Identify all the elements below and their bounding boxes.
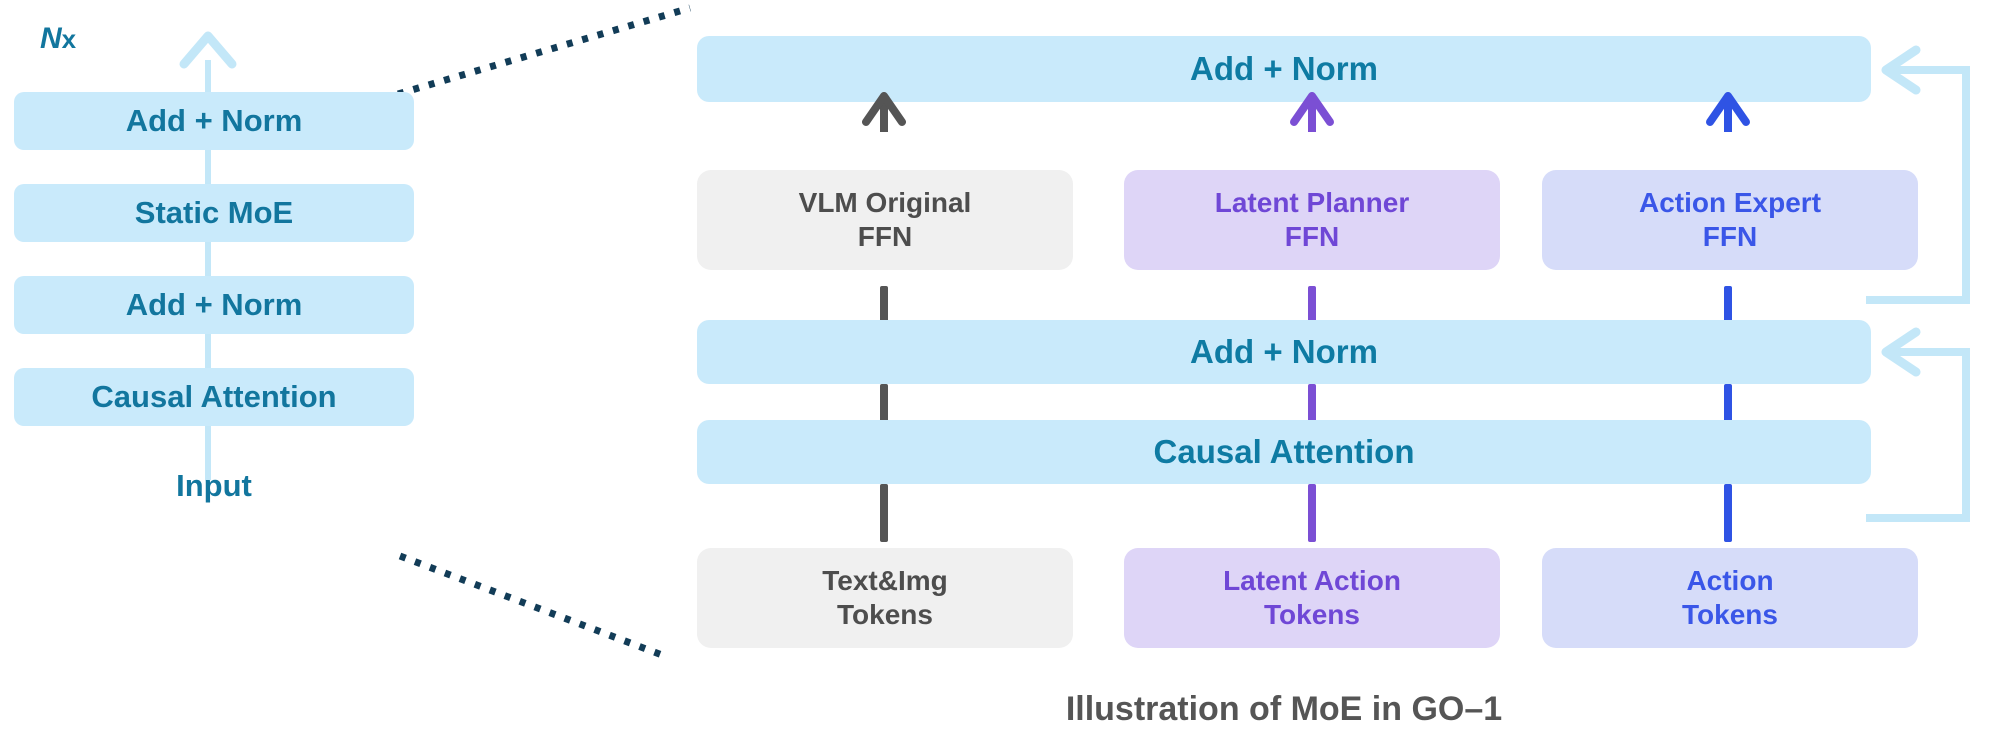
expert-label-line2: FFN <box>858 220 912 254</box>
stream-stub-purple-lower <box>1308 484 1316 542</box>
left-block-causal-attention[interactable]: Causal Attention <box>14 368 414 426</box>
left-block-add-norm-2[interactable]: Add + Norm <box>14 92 414 150</box>
left-block-add-norm-1[interactable]: Add + Norm <box>14 276 414 334</box>
figure-canvas: Nx Add + Norm Static MoE Add + Norm Caus… <box>0 0 2014 748</box>
expert-box-latent-planner-ffn[interactable]: Latent Planner FFN <box>1124 170 1500 270</box>
token-label-line2: Tokens <box>1264 598 1360 632</box>
token-box-action-tokens[interactable]: Action Tokens <box>1542 548 1918 648</box>
expert-label-line2: FFN <box>1703 220 1757 254</box>
token-label-line2: Tokens <box>1682 598 1778 632</box>
token-box-latent-action-tokens[interactable]: Latent Action Tokens <box>1124 548 1500 648</box>
left-input-label: Input <box>14 468 414 504</box>
expert-label-line2: FFN <box>1285 220 1339 254</box>
token-label-line2: Tokens <box>837 598 933 632</box>
token-label-line1: Text&Img <box>822 564 948 598</box>
left-block-label: Add + Norm <box>126 102 303 140</box>
right-mid-add-norm-label: Add + Norm <box>1190 332 1378 372</box>
right-causal-attention[interactable]: Causal Attention <box>697 420 1871 484</box>
right-mid-add-norm[interactable]: Add + Norm <box>697 320 1871 384</box>
left-block-label: Add + Norm <box>126 286 303 324</box>
expert-box-action-expert-ffn[interactable]: Action Expert FFN <box>1542 170 1918 270</box>
token-box-text-img-tokens[interactable]: Text&Img Tokens <box>697 548 1073 648</box>
expert-label-line1: Latent Planner <box>1215 186 1409 220</box>
token-label-line1: Action <box>1686 564 1773 598</box>
right-causal-attention-label: Causal Attention <box>1154 432 1415 472</box>
expert-label-line1: VLM Original <box>799 186 972 220</box>
token-label-line1: Latent Action <box>1223 564 1401 598</box>
right-top-add-norm-label: Add + Norm <box>1190 49 1378 89</box>
left-block-static-moe[interactable]: Static MoE <box>14 184 414 242</box>
right-top-add-norm[interactable]: Add + Norm <box>697 36 1871 102</box>
left-block-label: Causal Attention <box>91 378 336 416</box>
figure-caption: Illustration of MoE in GO–1 <box>697 690 1871 729</box>
left-block-label: Static MoE <box>135 194 293 232</box>
stream-stub-blue-lower <box>1724 484 1732 542</box>
expert-box-vlm-original-ffn[interactable]: VLM Original FFN <box>697 170 1073 270</box>
stream-stub-grey-lower <box>880 484 888 542</box>
expert-label-line1: Action Expert <box>1639 186 1821 220</box>
repeat-count-label: Nx <box>40 22 76 56</box>
